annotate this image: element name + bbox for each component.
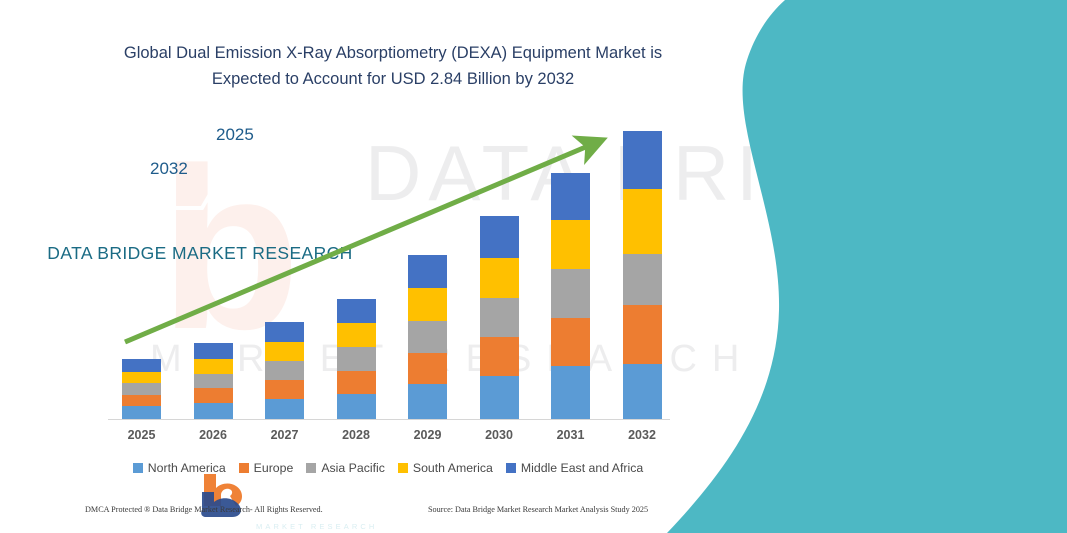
legend-swatch-icon (398, 463, 408, 473)
infographic-root: b DATA BRIDGE MARKET RESEARCH Global Dua… (0, 0, 1067, 533)
bar-segment (623, 254, 662, 306)
bar-segment (122, 383, 161, 395)
x-axis-label-2026: 2026 (183, 428, 243, 442)
bar-segment (623, 305, 662, 364)
x-axis-label-2029: 2029 (398, 428, 458, 442)
legend-label: North America (148, 461, 226, 475)
legend-label: South America (413, 461, 493, 475)
bar-segment (480, 258, 519, 298)
bar-segment (480, 376, 519, 419)
legend-label: Middle East and Africa (521, 461, 643, 475)
bar-segment (265, 342, 304, 361)
bar-2026 (194, 343, 233, 419)
bar-segment (337, 323, 376, 347)
bar-segment (337, 347, 376, 370)
x-axis-label-2027: 2027 (255, 428, 315, 442)
x-axis-labels: 20252026202720282029203020312032 (88, 428, 688, 448)
legend-item-europe[interactable]: Europe (239, 461, 294, 475)
bar-segment (337, 394, 376, 419)
bar-2025 (122, 359, 161, 419)
bar-segment (337, 299, 376, 323)
bar-segment (551, 220, 590, 270)
page-title: Global Dual Emission X-Ray Absorptiometr… (88, 40, 698, 92)
legend-item-middle-east-and-africa[interactable]: Middle East and Africa (506, 461, 643, 475)
bar-segment (551, 173, 590, 220)
bar-segment (551, 366, 590, 419)
legend-item-north-america[interactable]: North America (133, 461, 226, 475)
legend-label: Asia Pacific (321, 461, 385, 475)
legend-swatch-icon (133, 463, 143, 473)
legend-swatch-icon (306, 463, 316, 473)
x-axis-label-2032: 2032 (612, 428, 672, 442)
bar-2030 (480, 216, 519, 419)
bar-segment (122, 406, 161, 419)
bar-segment (194, 374, 233, 389)
bar-segment (623, 131, 662, 189)
bar-segment (122, 359, 161, 372)
bar-segment (194, 359, 233, 374)
bar-segment (122, 372, 161, 384)
footer-copyright: DMCA Protected ® Data Bridge Market Rese… (85, 505, 323, 514)
bar-2029 (408, 255, 447, 419)
x-axis-label-2031: 2031 (541, 428, 601, 442)
bar-segment (408, 384, 447, 419)
bar-segment (265, 380, 304, 399)
bar-segment (551, 318, 590, 366)
bar-2028 (337, 299, 376, 419)
x-axis-label-2030: 2030 (469, 428, 529, 442)
bar-segment (551, 269, 590, 317)
footer-source: Source: Data Bridge Market Research Mark… (428, 505, 648, 514)
footer: DMCA Protected ® Data Bridge Market Rese… (0, 505, 700, 525)
legend-swatch-icon (506, 463, 516, 473)
bar-segment (265, 361, 304, 380)
panel-curve-shape (667, 0, 1067, 533)
x-axis-label-2028: 2028 (326, 428, 386, 442)
right-panel (667, 0, 1067, 533)
legend-label: Europe (254, 461, 294, 475)
bar-segment (194, 343, 233, 359)
legend-swatch-icon (239, 463, 249, 473)
bar-segment (480, 337, 519, 376)
x-axis-label-2025: 2025 (112, 428, 172, 442)
bar-segment (480, 298, 519, 337)
bar-segment (408, 321, 447, 353)
bar-segment (194, 388, 233, 403)
bar-segment (408, 255, 447, 289)
legend-item-south-america[interactable]: South America (398, 461, 493, 475)
bar-segment (265, 399, 304, 419)
bar-segment (408, 353, 447, 385)
bar-2027 (265, 322, 304, 419)
bar-segment (265, 322, 304, 342)
bar-segment (480, 216, 519, 258)
bar-segment (408, 288, 447, 321)
x-axis-line (108, 419, 670, 420)
bar-segment (337, 371, 376, 394)
chart-legend: North AmericaEuropeAsia PacificSouth Ame… (88, 461, 688, 475)
bar-2031 (551, 173, 590, 420)
bar-segment (194, 403, 233, 419)
plot-area (88, 125, 688, 420)
bar-segment (623, 189, 662, 253)
legend-item-asia-pacific[interactable]: Asia Pacific (306, 461, 385, 475)
bar-chart (88, 120, 688, 420)
bar-2032 (623, 131, 662, 419)
bar-segment (623, 364, 662, 419)
bar-segment (122, 395, 161, 407)
